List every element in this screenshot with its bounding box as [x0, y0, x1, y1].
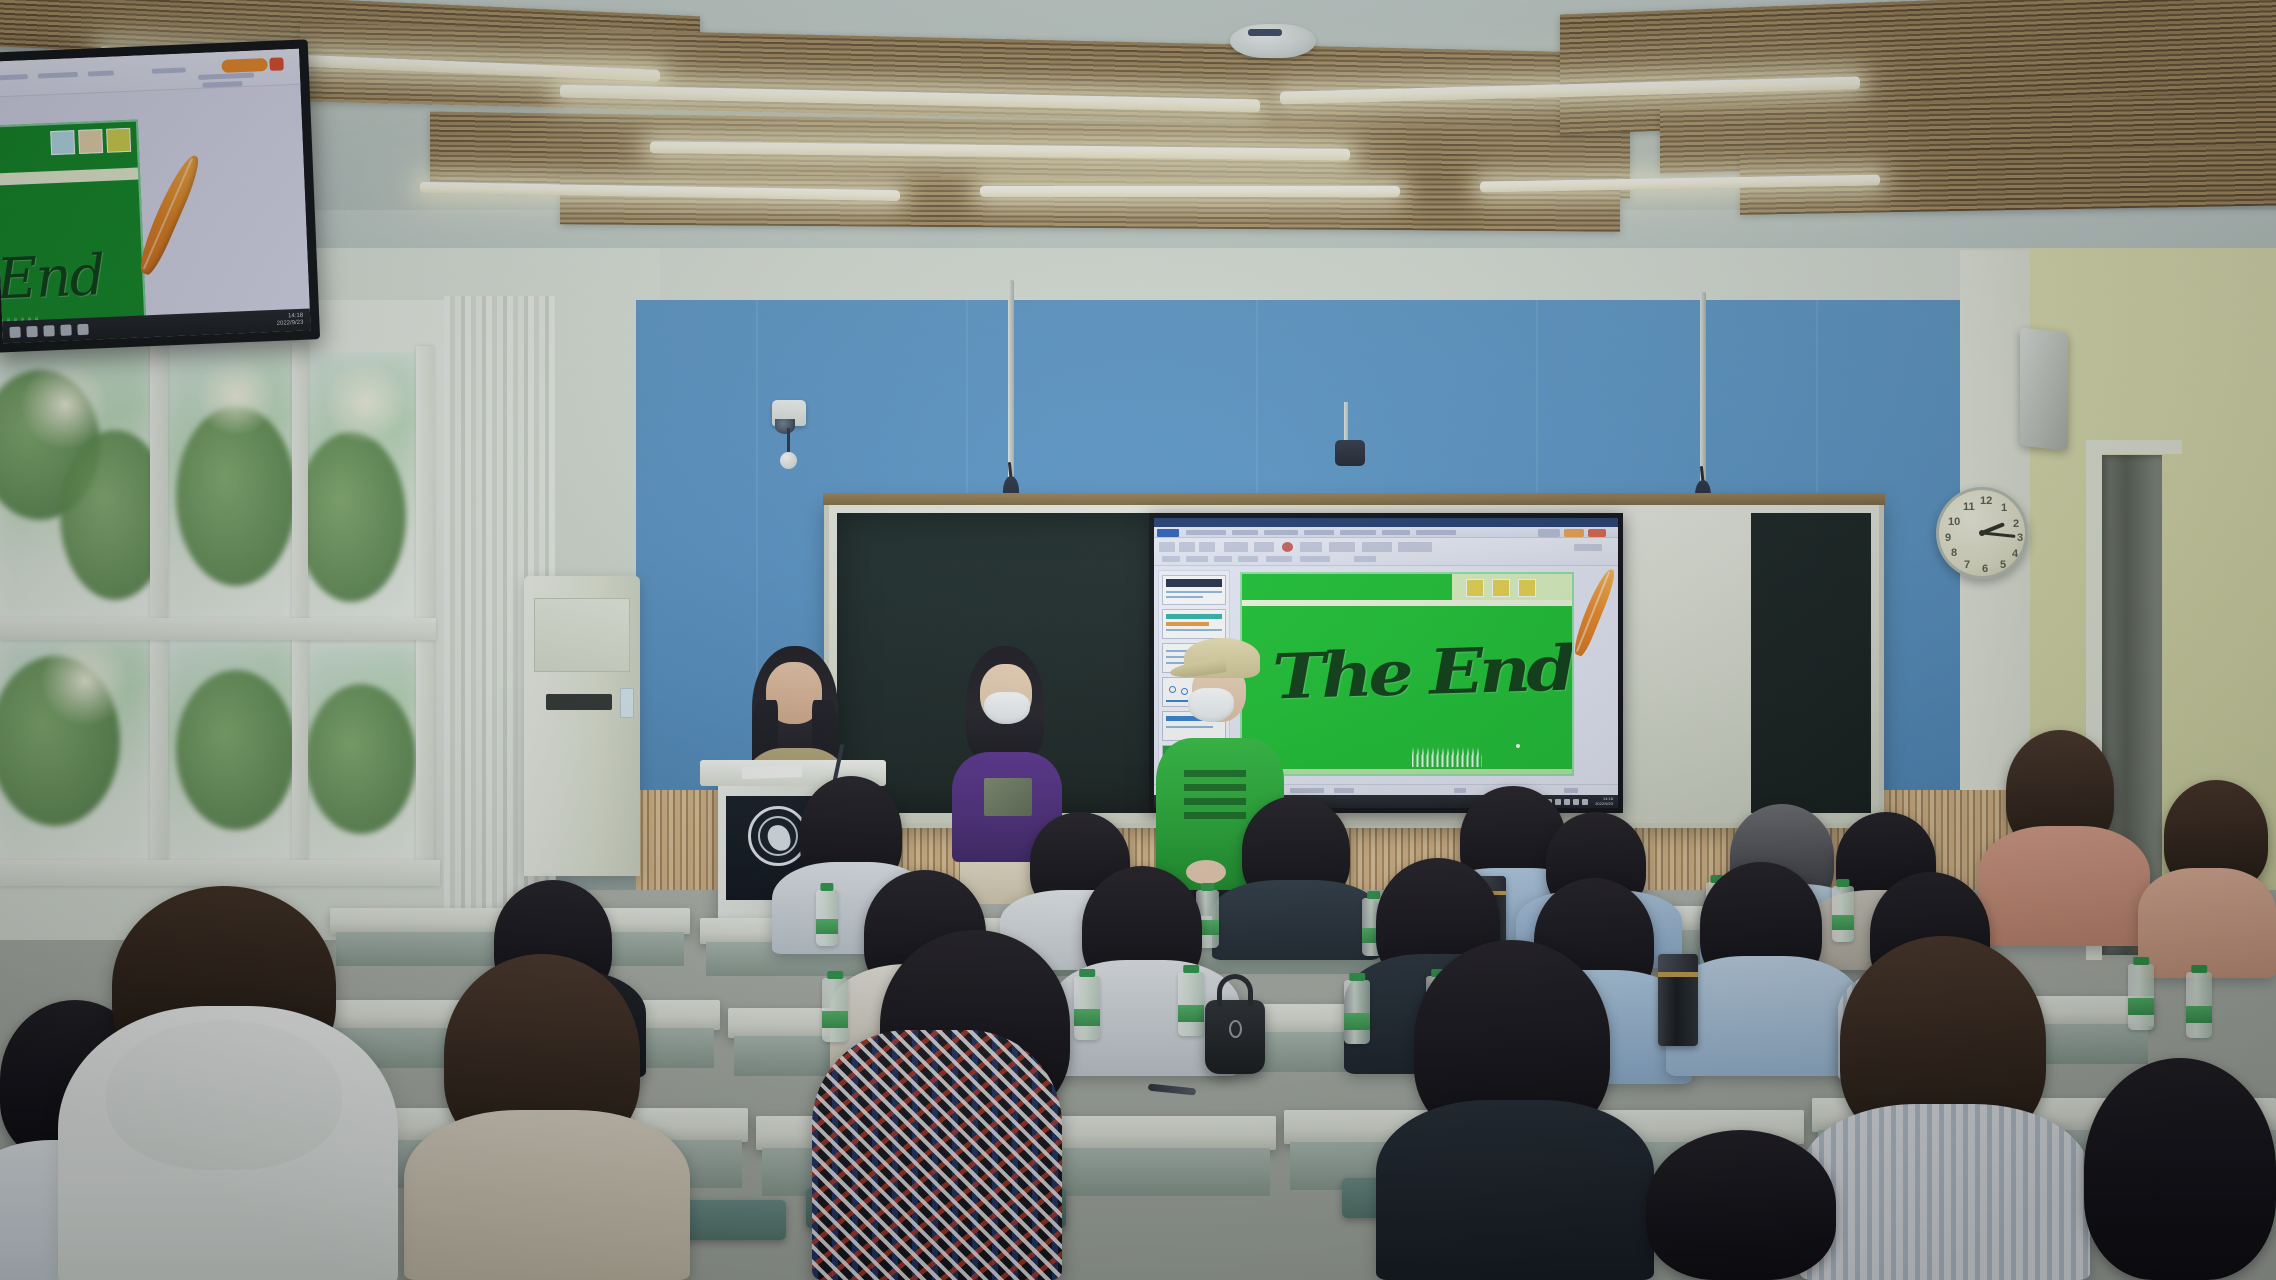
- water-bottle: [816, 890, 838, 946]
- hanging-mic-rod: [1700, 292, 1706, 484]
- window-pane: [0, 340, 150, 620]
- explorer-icon[interactable]: [60, 324, 71, 335]
- clock-center-pin: [1979, 530, 1985, 536]
- tv-close-button: [269, 57, 284, 71]
- tv-record-button: [221, 58, 268, 73]
- taskview-icon[interactable]: [43, 325, 54, 336]
- tshirt-graphic-print: [1184, 770, 1246, 826]
- system-tray[interactable]: 14:18 2022/9/23: [1546, 797, 1613, 805]
- camera-pendant-ball: [780, 452, 797, 469]
- tv-ppt-ribbon: [0, 49, 300, 98]
- chalkboard-side-panel: [1751, 513, 1871, 813]
- wall-clock: 12 1 2 3 4 5 6 7 8 9 10 11: [1936, 487, 2028, 579]
- clock-numeral: 6: [1982, 563, 1988, 575]
- student-presenter-2-hands: [1186, 860, 1226, 884]
- clock-numeral: 9: [1945, 532, 1951, 544]
- clock-numeral: 3: [2017, 532, 2023, 544]
- ppt-minimize-button[interactable]: [1564, 529, 1584, 537]
- start-icon[interactable]: [9, 326, 20, 337]
- security-camera-icon: [772, 400, 806, 426]
- water-bottle: [2186, 972, 2212, 1038]
- tv-slide-text: The End: [0, 243, 105, 317]
- tshirt-graphic-print: [984, 778, 1032, 816]
- air-conditioner-unit: [524, 576, 640, 876]
- window-mullion: [150, 336, 168, 876]
- clock-numeral: 4: [2012, 548, 2018, 560]
- window-mullion: [292, 342, 308, 876]
- hanging-mic-rod: [1008, 280, 1014, 480]
- network-icon[interactable]: [1555, 799, 1561, 805]
- tv-clock-date: 2022/9/23: [277, 320, 304, 328]
- water-bottle: [2128, 964, 2154, 1030]
- feather-quill-icon: [1569, 566, 1618, 657]
- volume-icon[interactable]: [1564, 799, 1570, 805]
- water-bottle: [822, 978, 848, 1042]
- ime-icon[interactable]: [1582, 799, 1588, 805]
- face-mask-icon: [1188, 688, 1234, 722]
- face-mask-icon: [984, 692, 1030, 724]
- audience-body: [1212, 880, 1380, 960]
- ppt-slide-thumbnail[interactable]: [1162, 609, 1226, 639]
- ppt-file-menu[interactable]: [1157, 529, 1179, 537]
- wall-speaker-icon: [2020, 327, 2068, 450]
- slide-title-text: The End: [1271, 631, 1573, 713]
- wall-mounted-tv-monitor[interactable]: The End 14:18 2022/9/23: [0, 39, 320, 352]
- window-pane: [0, 636, 150, 866]
- clock-minute-hand: [1982, 532, 2015, 538]
- water-bottle: [1074, 976, 1100, 1040]
- ppt-close-button[interactable]: [1588, 529, 1606, 537]
- tv-screen: The End 14:18 2022/9/23: [0, 49, 311, 344]
- audience-head: [2084, 1058, 2276, 1280]
- clock-numeral: 7: [1964, 559, 1970, 571]
- audience-body: [1376, 1100, 1654, 1280]
- window-pane: [166, 346, 294, 622]
- hoodie-hood: [106, 1020, 342, 1170]
- window-pane: [306, 352, 418, 622]
- audience-body: [1978, 826, 2150, 946]
- taskbar-date: 2022/9/23: [1595, 802, 1613, 806]
- tv-slide-thumbnails: [50, 128, 131, 155]
- ceiling-speaker-icon: [1335, 440, 1365, 466]
- battery-icon[interactable]: [1573, 799, 1579, 805]
- ppt-taskbar-icon[interactable]: [77, 323, 88, 334]
- clock-numeral: 11: [1963, 501, 1975, 513]
- handbag: [1205, 1000, 1265, 1074]
- thermos-flask: [1658, 954, 1698, 1046]
- audience-body: [404, 1110, 690, 1280]
- university-crest-icon: [748, 806, 808, 866]
- taskbar-clock[interactable]: 14:18 2022/9/23: [1595, 797, 1613, 805]
- window-wall: [0, 300, 500, 940]
- ppt-ribbon[interactable]: [1154, 538, 1618, 566]
- water-bottle: [1344, 980, 1370, 1044]
- ppt-menu-bar[interactable]: [1154, 527, 1618, 538]
- tv-slide-content: The End: [0, 119, 147, 343]
- window-mullion: [416, 346, 434, 876]
- ceiling-wood-panel: [560, 174, 1620, 231]
- clock-numeral: 10: [1948, 516, 1960, 528]
- clock-numeral: 2: [2013, 518, 2019, 530]
- audience-body: [2138, 868, 2276, 978]
- clock-numeral: 8: [1951, 547, 1957, 559]
- window-pane: [306, 644, 418, 866]
- audience-body: [1800, 1104, 2090, 1280]
- water-bottle: [1832, 886, 1854, 942]
- window-pane: [166, 640, 294, 866]
- slide-grass-decoration: [1412, 747, 1482, 767]
- water-bottle: [1178, 972, 1204, 1036]
- clock-numeral: 12: [1980, 495, 1992, 507]
- ceiling-light-tube: [980, 186, 1400, 197]
- slide-top-box: [1452, 574, 1572, 602]
- ppt-title-bar: [1154, 518, 1618, 527]
- classroom-scene: The End 14:18 2022/9/23: [0, 0, 2276, 1280]
- search-icon[interactable]: [26, 325, 37, 336]
- feather-quill-icon: [133, 151, 204, 277]
- clock-numeral: 5: [2000, 559, 2006, 571]
- window-transom: [0, 618, 436, 640]
- audience-head: [1646, 1130, 1836, 1280]
- ppt-current-slide: The End: [1240, 572, 1574, 776]
- window-sill: [0, 860, 440, 886]
- tv-taskbar-clock: 14:18 2022/9/23: [276, 313, 303, 327]
- clock-numeral: 1: [2001, 502, 2007, 514]
- audience-patterned-blouse: [812, 1030, 1062, 1280]
- smoke-detector-icon: [1230, 24, 1316, 58]
- lectern-papers: [742, 765, 802, 779]
- ppt-slide-thumbnail[interactable]: [1162, 575, 1226, 605]
